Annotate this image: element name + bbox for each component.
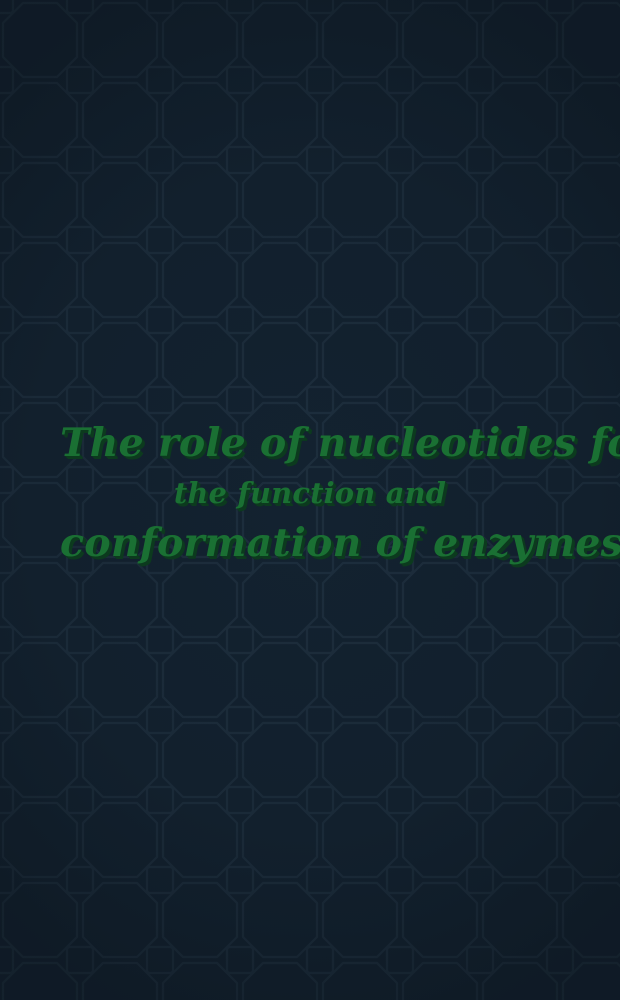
title-line-3: conformation of enzymes [60, 518, 560, 568]
book-cover: The role of nucleotides for the function… [0, 0, 620, 1000]
page-title: The role of nucleotides for the function… [0, 418, 620, 568]
title-line-2: the function and [60, 468, 560, 518]
title-line-1: The role of nucleotides for [60, 418, 560, 468]
